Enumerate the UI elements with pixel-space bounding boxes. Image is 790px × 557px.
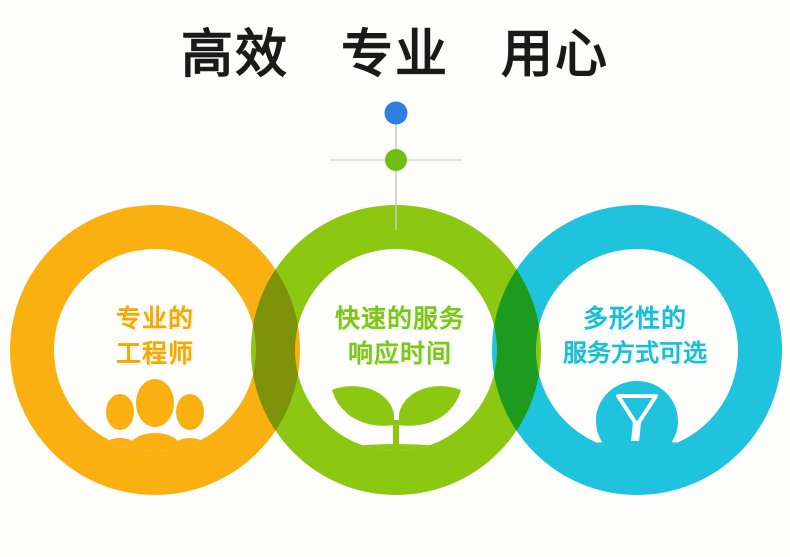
circle-2-label-line-2: 响应时间 [275,337,525,372]
overlap-green-cyan [0,0,790,557]
circle-2-label: 快速的服务 响应时间 [275,302,525,371]
circle-1-label-line-1: 专业的 [30,302,280,337]
circle-3-label: 多形性的 服务方式可选 [510,302,760,370]
infographic-canvas: 高效专业用心 [0,0,790,557]
circle-3-label-line-1: 多形性的 [510,302,760,337]
circle-1-label-line-2: 工程师 [30,337,280,372]
circle-2-label-line-1: 快速的服务 [275,302,525,337]
circle-1-label: 专业的 工程师 [30,302,280,371]
venn-diagram [0,0,790,557]
circle-3-label-line-2: 服务方式可选 [510,337,760,370]
